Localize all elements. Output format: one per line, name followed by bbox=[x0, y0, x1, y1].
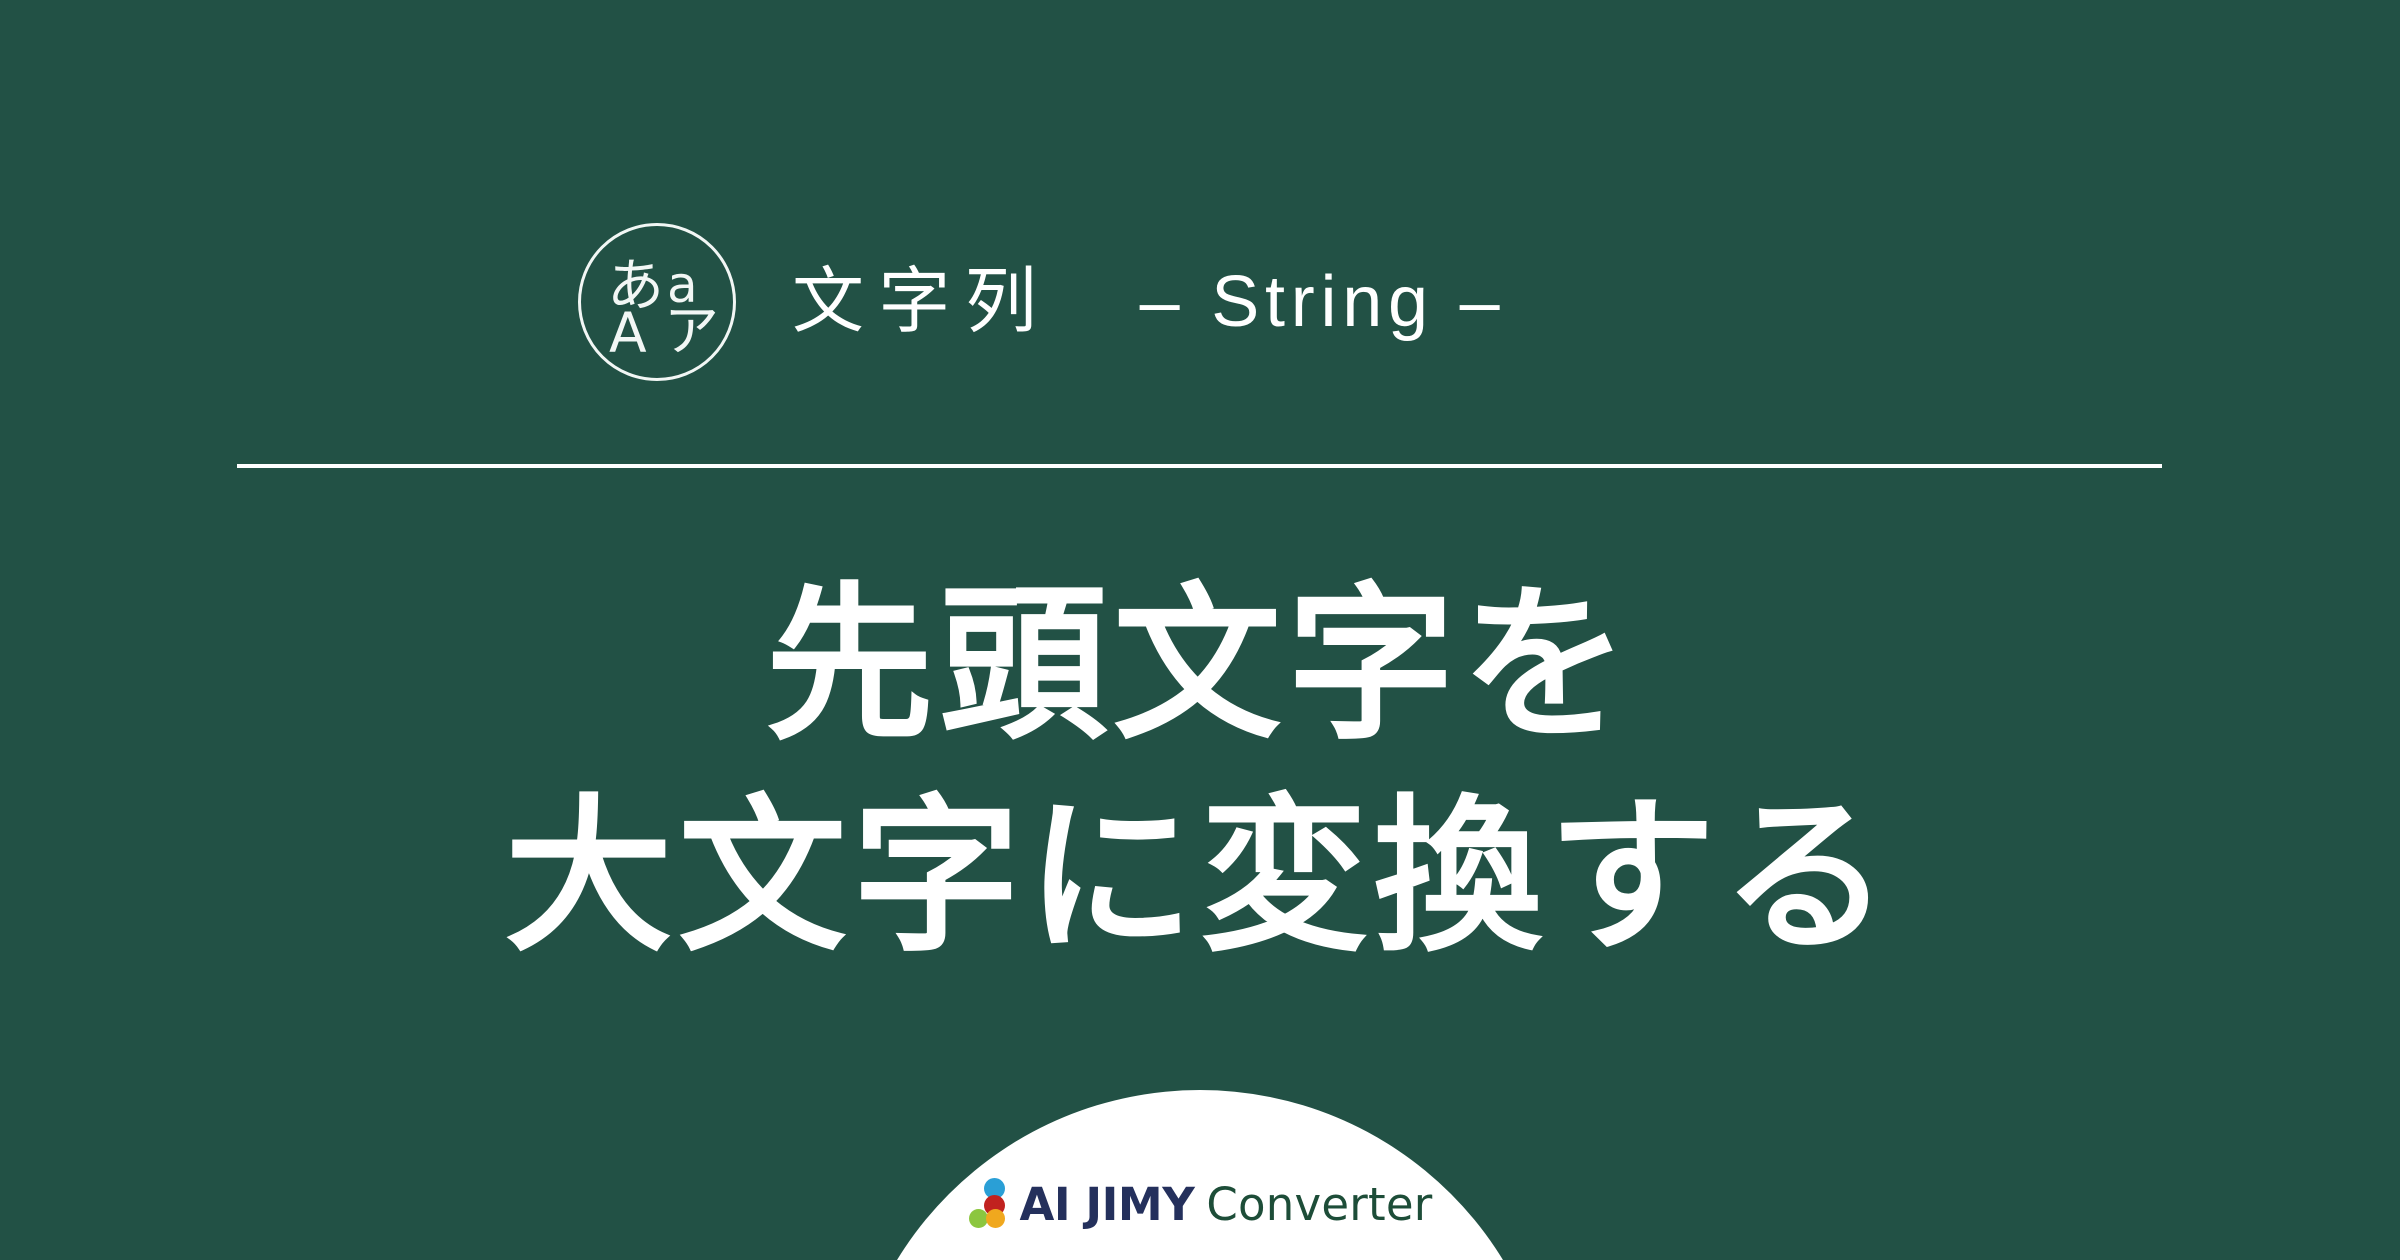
page-title-line-2: 大文字に変換する bbox=[0, 772, 2400, 984]
language-circle-icon: あ a A ア bbox=[578, 223, 736, 381]
brand-wordmark: AI JIMYConverter bbox=[1019, 1182, 1432, 1227]
header-divider bbox=[237, 464, 2162, 468]
brand-logo: AI JIMYConverter bbox=[845, 1172, 1555, 1236]
brand-dots-icon bbox=[967, 1176, 1013, 1232]
brand-name-primary: AI JIMY bbox=[1019, 1178, 1194, 1231]
brand-name-secondary: Converter bbox=[1206, 1178, 1432, 1231]
category-header: あ a A ア 文字列 – String – bbox=[0, 222, 2400, 382]
category-title: 文字列 – String – bbox=[792, 266, 1505, 338]
page-title: 先頭文字を 大文字に変換する bbox=[0, 560, 2400, 983]
katakana-glyph: ア bbox=[664, 304, 719, 359]
page-title-line-1: 先頭文字を bbox=[0, 560, 2400, 772]
uppercase-glyph: A bbox=[609, 306, 647, 361]
dot-orange-icon bbox=[986, 1209, 1005, 1228]
category-title-jp: 文字列 bbox=[792, 262, 1051, 342]
slide-canvas: あ a A ア 文字列 – String – 先頭文字を 大文字に変換する AI… bbox=[0, 0, 2400, 1260]
category-title-en: – String – bbox=[1140, 262, 1506, 342]
